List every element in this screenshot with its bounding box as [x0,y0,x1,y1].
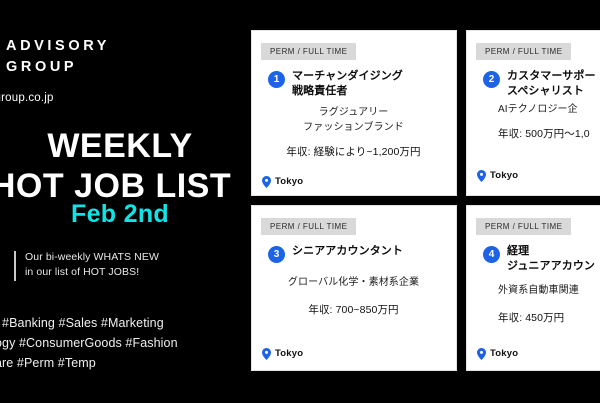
rank-badge: 2 [483,71,500,88]
company-line-1: ラグジュアリー [261,105,446,120]
brand-website-url: sorygroup.co.jp [0,92,54,104]
headline-line-1: WEEKLY [0,126,240,166]
job-card-grid: PERM / FULL TIME 1 マーチャンダイジング 戦略責任者 ラグジュ… [251,30,600,370]
job-title: マーチャンダイジング 戦略責任者 [292,69,403,98]
hashtag-line-2: nology #ConsumerGoods #Fashion [0,333,240,353]
rank-badge: 1 [268,71,285,88]
job-title-line-1: シニアアカウンタント [292,244,403,259]
job-title: 経理 ジュニアアカウン [507,244,595,273]
rank-badge: 4 [483,246,500,263]
job-card[interactable]: PERM / FULL TIME 4 経理 ジュニアアカウン 外資系自動車関連 … [466,205,600,371]
job-card[interactable]: PERM / FULL TIME 2 カスタマーサポー スペシャリスト AIテク… [466,30,600,196]
job-card-body: 4 経理 ジュニアアカウン 外資系自動車関連 年収: 450万円 [467,244,600,325]
map-pin-icon [262,175,271,187]
job-card[interactable]: PERM / FULL TIME 1 マーチャンダイジング 戦略責任者 ラグジュ… [251,30,457,196]
brand-lockup: ADVISORY GROUP [0,36,240,94]
salary-text: 年収: 経験により~1,200万円 [261,145,446,159]
job-title-row: 4 経理 ジュニアアカウン [476,244,600,273]
salary-text: 年収: 700~850万円 [261,303,446,317]
tagline-accent-bar [14,251,16,281]
job-title-row: 1 マーチャンダイジング 戦略責任者 [261,69,446,98]
location-label: Tokyo [275,176,303,187]
brand-wordmark: ADVISORY GROUP [6,36,110,78]
job-title-line-2: スペシャリスト [507,84,596,99]
company-line-2: ファッションブランド [261,120,446,135]
map-pin-icon [477,169,486,181]
tagline-line-2: in our list of HOT JOBS! [25,265,159,280]
hashtag-line-3: thcare #Perm #Temp [0,353,240,373]
location-label: Tokyo [275,348,303,359]
job-title-line-2: ジュニアアカウン [507,259,595,274]
tagline-block: Our bi-weekly WHATS NEW in our list of H… [14,250,229,281]
company-description: ラグジュアリー ファッションブランド [261,105,446,135]
hashtag-line-1: nce #Banking #Sales #Marketing [0,313,240,333]
job-card-body: 2 カスタマーサポー スペシャリスト AIテクノロジー企 年収: 500万円〜1… [467,69,600,141]
employment-type-tag: PERM / FULL TIME [476,43,571,60]
employment-type-tag: PERM / FULL TIME [261,218,356,235]
job-title-line-1: カスタマーサポー [507,69,596,84]
tagline-text-group: Our bi-weekly WHATS NEW in our list of H… [25,250,159,280]
job-title: シニアアカウンタント [292,244,403,259]
company-description: グローバル化学・素材系企業 [261,275,446,290]
location-row: Tokyo [262,347,303,359]
job-title-line-2: 戦略責任者 [292,84,403,99]
company-description: AIテクノロジー企 [476,102,600,117]
job-title-row: 2 カスタマーサポー スペシャリスト [476,69,600,98]
tagline-line-1: Our bi-weekly WHATS NEW [25,250,159,265]
hashtag-block: nce #Banking #Sales #Marketing nology #C… [0,313,240,373]
job-title-row: 3 シニアアカウンタント [261,244,446,263]
brand-line-1: ADVISORY [6,36,110,57]
employment-type-tag: PERM / FULL TIME [261,43,356,60]
issue-date: Feb 2nd [0,200,240,229]
company-line-1: 外資系自動車関連 [498,283,600,298]
job-title: カスタマーサポー スペシャリスト [507,69,596,98]
location-row: Tokyo [477,169,518,181]
map-pin-icon [262,347,271,359]
headline-block: WEEKLY HOT JOB LIST [0,126,240,206]
job-card[interactable]: PERM / FULL TIME 3 シニアアカウンタント グローバル化学・素材… [251,205,457,371]
employment-type-tag: PERM / FULL TIME [476,218,571,235]
job-card-body: 3 シニアアカウンタント グローバル化学・素材系企業 年収: 700~850万円 [252,244,456,317]
left-promo-panel: ADVISORY GROUP sorygroup.co.jp WEEKLY HO… [0,0,240,403]
location-label: Tokyo [490,348,518,359]
job-title-line-1: 経理 [507,244,595,259]
salary-text: 年収: 500万円〜1,0 [476,127,600,141]
job-title-line-1: マーチャンダイジング [292,69,403,84]
map-pin-icon [477,347,486,359]
location-row: Tokyo [477,347,518,359]
brand-line-2: GROUP [6,57,110,78]
company-line-1: AIテクノロジー企 [498,102,600,117]
location-row: Tokyo [262,175,303,187]
company-description: 外資系自動車関連 [476,283,600,298]
job-card-body: 1 マーチャンダイジング 戦略責任者 ラグジュアリー ファッションブランド 年収… [252,69,456,159]
location-label: Tokyo [490,170,518,181]
company-line-1: グローバル化学・素材系企業 [261,275,446,290]
rank-badge: 3 [268,246,285,263]
salary-text: 年収: 450万円 [476,311,600,325]
